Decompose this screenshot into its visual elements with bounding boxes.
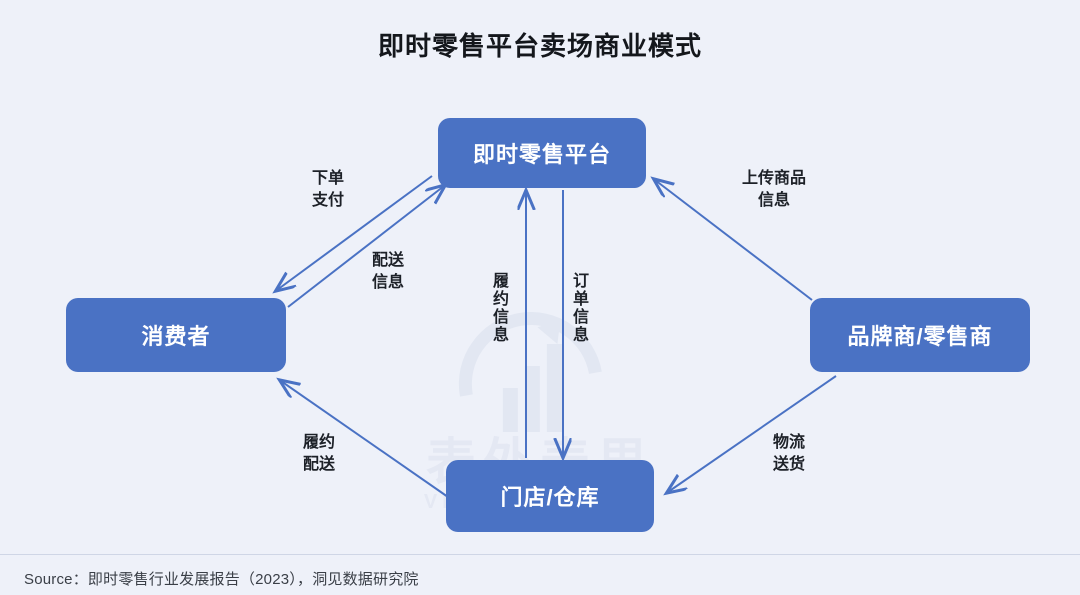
footer-divider bbox=[0, 554, 1080, 555]
diagram-page: 即时零售平台卖场商业模式 表外表里 VISION FINANCE bbox=[0, 0, 1080, 595]
edge-label-delivery-info: 配送 信息 bbox=[352, 250, 424, 294]
edge-label-order-info: 订单信息 bbox=[570, 272, 586, 344]
edge-label-logistics: 物流 送货 bbox=[752, 432, 826, 476]
edge-label-upload: 上传商品 信息 bbox=[718, 168, 830, 212]
node-platform[interactable]: 即时零售平台 bbox=[438, 118, 646, 188]
node-store[interactable]: 门店/仓库 bbox=[446, 460, 654, 532]
node-consumer[interactable]: 消费者 bbox=[66, 298, 286, 372]
edge-label-order-pay: 下单 支付 bbox=[286, 168, 370, 212]
node-brand[interactable]: 品牌商/零售商 bbox=[810, 298, 1030, 372]
source-note: Source：即时零售行业发展报告（2023），洞见数据研究院 bbox=[24, 568, 419, 589]
edge-label-fulfil-deli: 履约 配送 bbox=[282, 432, 356, 476]
edge-label-fulfil-info: 履约信息 bbox=[490, 272, 506, 344]
